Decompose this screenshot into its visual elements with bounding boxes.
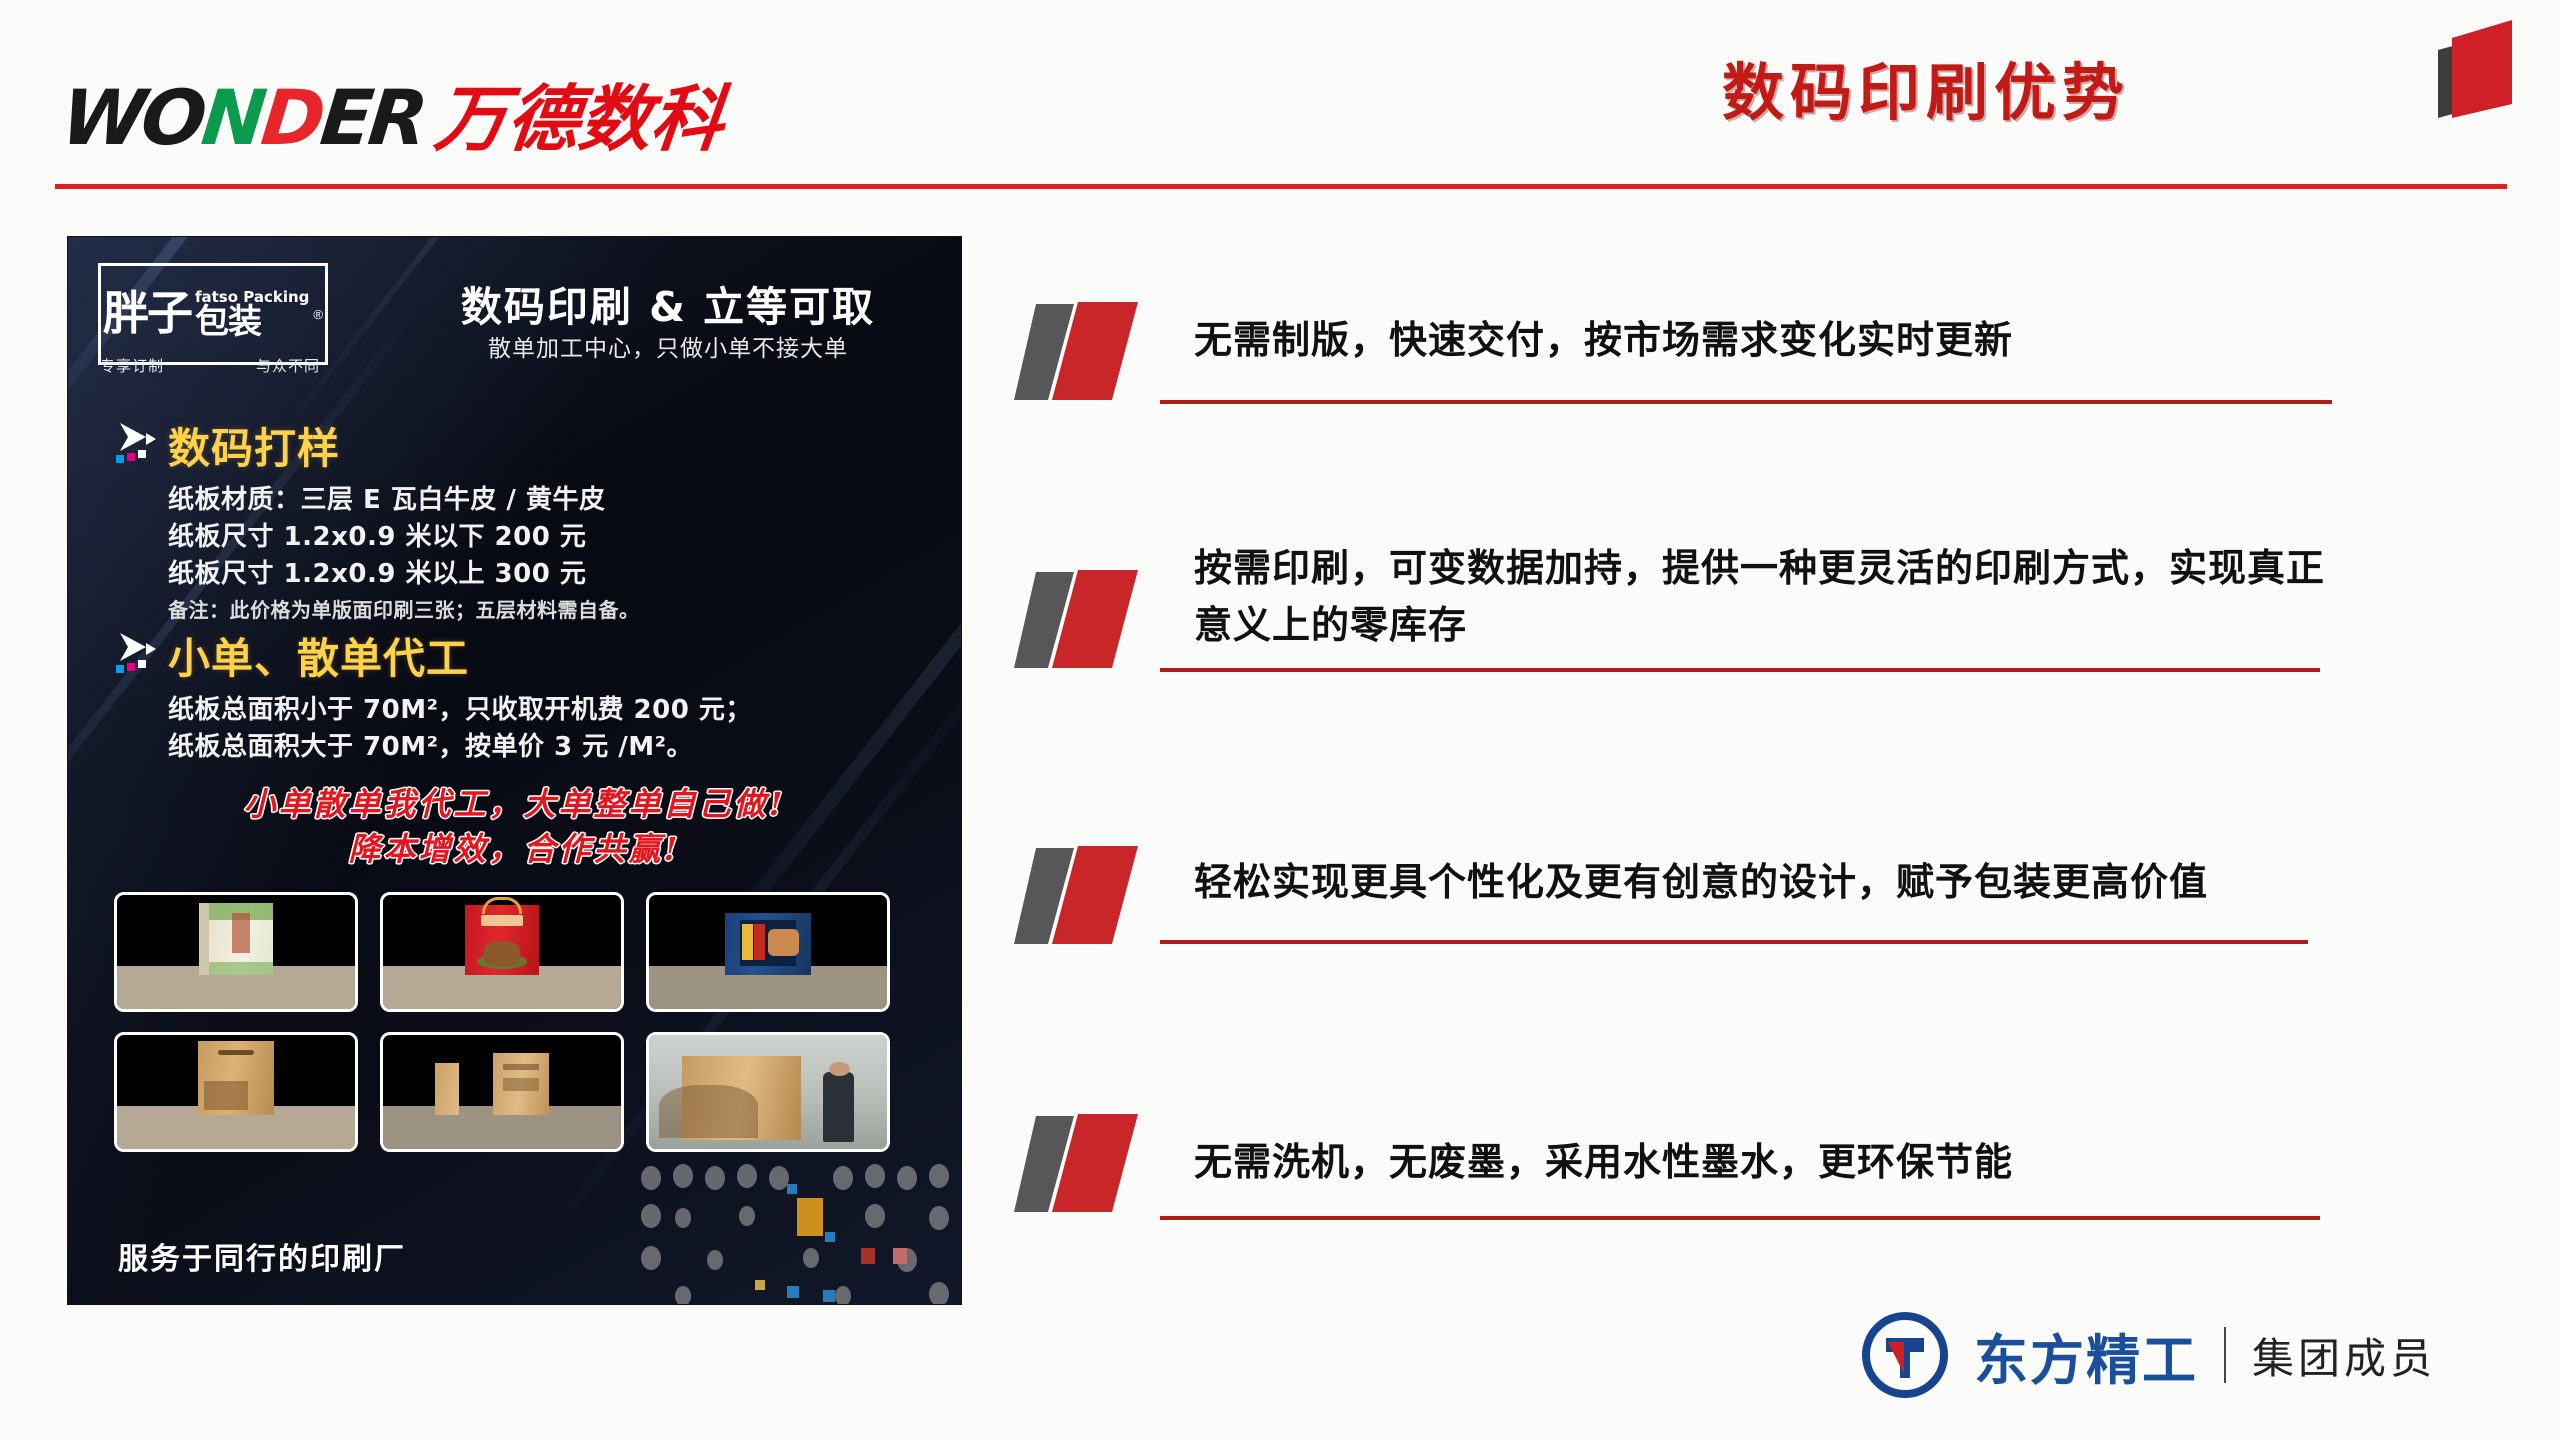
slide-root: WONDER 万德数科 数码印刷优势 胖子 fatso Packing 包装 ®… xyxy=(0,0,2560,1440)
group-footer-logo: 东方精工 集团成员 xyxy=(1862,1312,2436,1398)
logo-wordmark-en: WONDER xyxy=(57,73,428,162)
section-title: 小单、散单代工 xyxy=(168,625,752,686)
promo-poster-image: 胖子 fatso Packing 包装 ® 专享订制 与众不同 数码印刷 & 立… xyxy=(68,237,961,1304)
section-line: 纸板材质：三层 E 瓦白牛皮 / 黄牛皮 xyxy=(168,482,640,519)
fatso-packing-logo: 胖子 fatso Packing 包装 ® xyxy=(98,263,328,365)
logo-wordmark-cn: 万德数科 xyxy=(430,60,729,165)
section-body: 纸板材质：三层 E 瓦白牛皮 / 黄牛皮 纸板尺寸 1.2x0.9 米以下 20… xyxy=(168,482,640,624)
advantage-underline xyxy=(1160,940,2308,944)
arrow-chevron-icon xyxy=(112,629,164,679)
arrow-chevron-icon xyxy=(112,419,164,469)
classic-kraft-boxes-photo xyxy=(380,1032,624,1152)
bookmark-ribbon-icon xyxy=(2412,8,2532,120)
dongfang-circle-logo xyxy=(1862,1312,1948,1398)
section-note: 备注：此价格为单版面印刷三张；五层材料需自备。 xyxy=(168,596,640,624)
product-photo-grid xyxy=(114,892,914,1152)
tagline-right: 与众不同 xyxy=(256,355,320,376)
slogan-line-1: 小单散单我代工，大单整单自己做! xyxy=(68,782,961,827)
chevron-accent-icon xyxy=(1012,564,1172,676)
advantage-underline xyxy=(1160,1216,2320,1220)
footer-divider xyxy=(2224,1327,2226,1383)
section-line: 纸板尺寸 1.2x0.9 米以上 300 元 xyxy=(168,556,640,593)
section-line: 纸板尺寸 1.2x0.9 米以下 200 元 xyxy=(168,519,640,556)
poster-subheadline: 散单加工中心，只做小单不接大单 xyxy=(398,329,938,363)
chevron-accent-icon xyxy=(1012,1108,1172,1220)
poster-slogan: 小单散单我代工，大单整单自己做! 降本增效，合作共赢! xyxy=(68,782,961,873)
advantage-underline xyxy=(1160,668,2320,672)
poster-footer-text: 服务于同行的印刷厂 xyxy=(118,1234,406,1278)
section-line: 纸板总面积大于 70M²，按单价 3 元 /M²。 xyxy=(168,729,752,766)
large-landscape-carton-photo xyxy=(646,1032,890,1152)
group-company-name: 东方精工 xyxy=(1974,1316,2198,1395)
advantage-underline xyxy=(1160,400,2332,404)
poster-section-proofing: 数码打样 纸板材质：三层 E 瓦白牛皮 / 黄牛皮 纸板尺寸 1.2x0.9 米… xyxy=(112,415,640,624)
fatso-logo-pack: 包装 xyxy=(195,305,261,339)
dot-matrix-pattern xyxy=(637,1164,961,1304)
page-title: 数码印刷优势 xyxy=(1722,42,2130,132)
blue-beef-carton-photo xyxy=(646,892,890,1012)
advantage-text: 无需制版，快速交付，按市场需求变化实时更新 xyxy=(1194,312,2374,369)
advantage-text: 无需洗机，无废墨，采用水性墨水，更环保节能 xyxy=(1194,1134,2374,1191)
kraft-building-box-photo xyxy=(114,1032,358,1152)
section-body: 纸板总面积小于 70M²，只收取开机费 200 元； 纸板总面积大于 70M²，… xyxy=(168,692,752,766)
trademark-symbol: ® xyxy=(313,307,323,322)
tagline-left: 专享订制 xyxy=(100,355,164,376)
poster-headline: 数码印刷 & 立等可取 xyxy=(398,273,938,333)
section-title: 数码打样 xyxy=(168,415,640,476)
header-divider xyxy=(55,184,2507,189)
advantage-text: 按需印刷，可变数据加持，提供一种更灵活的印刷方式，实现真正意义上的零库存 xyxy=(1194,540,2344,654)
chevron-accent-icon xyxy=(1012,296,1172,408)
advantage-text: 轻松实现更具个性化及更有创意的设计，赋予包装更高价值 xyxy=(1194,854,2374,911)
chevron-accent-icon xyxy=(1012,840,1172,952)
fatso-logo-taglines: 专享订制 与众不同 xyxy=(100,355,320,376)
red-chicken-gift-box-photo xyxy=(380,892,624,1012)
company-logo: WONDER 万德数科 xyxy=(62,60,724,165)
poster-section-oem: 小单、散单代工 纸板总面积小于 70M²，只收取开机费 200 元； 纸板总面积… xyxy=(112,625,752,766)
slogan-line-2: 降本增效，合作共赢! xyxy=(68,827,961,872)
honey-gift-box-photo xyxy=(114,892,358,1012)
section-line: 纸板总面积小于 70M²，只收取开机费 200 元； xyxy=(168,692,752,729)
group-member-label: 集团成员 xyxy=(2252,1325,2436,1386)
fatso-logo-cn: 胖子 xyxy=(103,293,191,334)
